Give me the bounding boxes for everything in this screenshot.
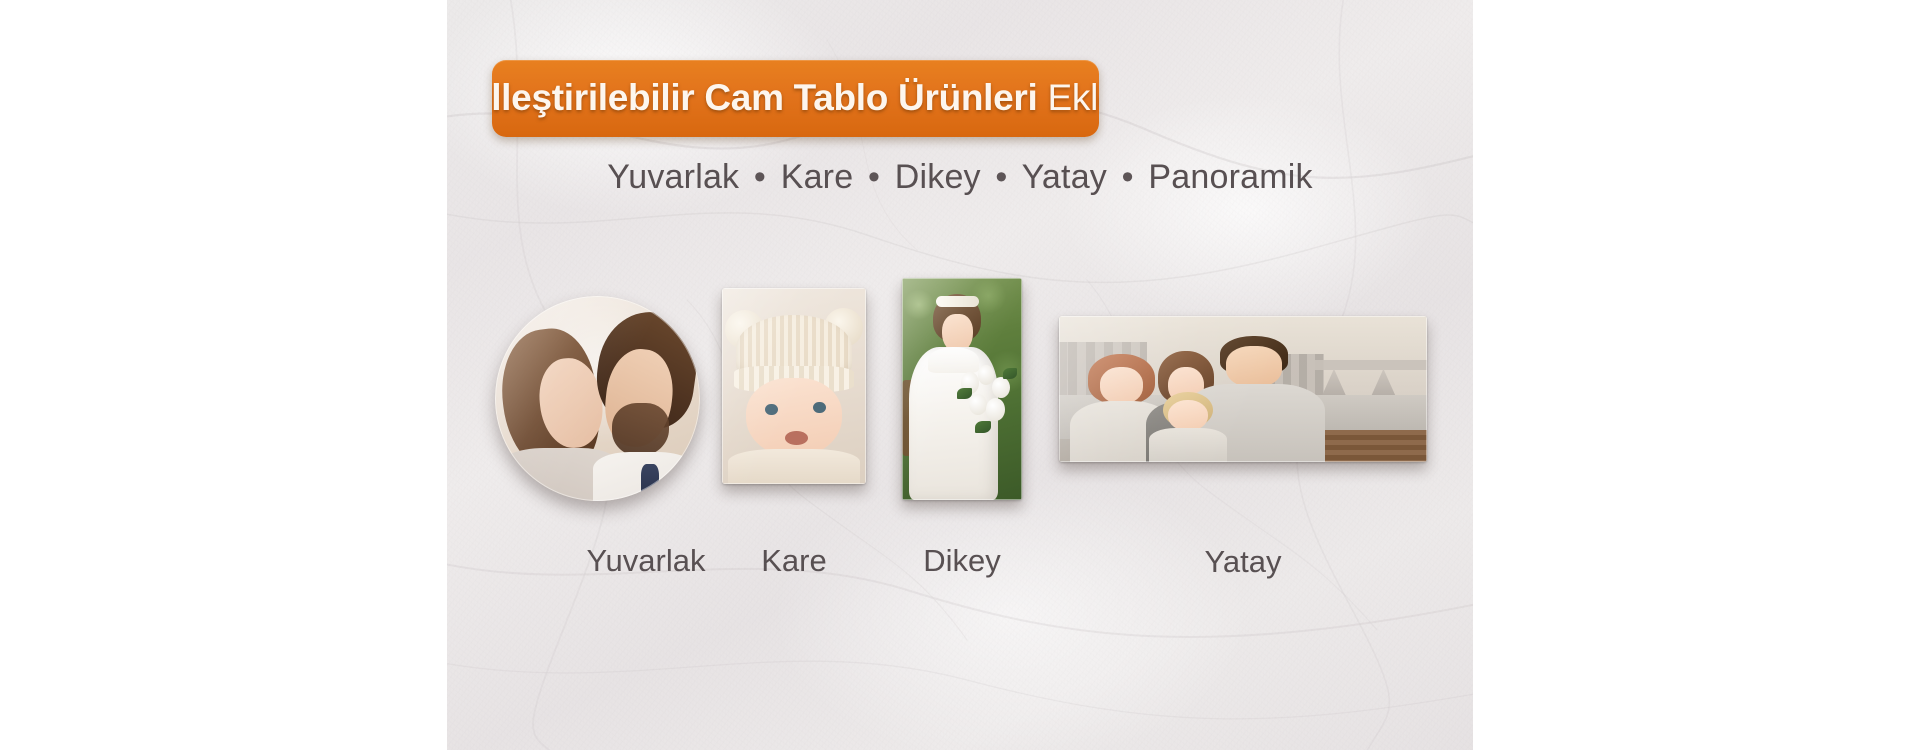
glass-panel-vertical[interactable]: [902, 278, 1022, 500]
subtitle-item-yatay: Yatay: [1022, 158, 1107, 196]
product-dikey[interactable]: Dikey: [902, 278, 1022, 500]
product-label-kare: Kare: [700, 543, 888, 579]
product-kare[interactable]: Kare: [722, 288, 866, 484]
subtitle-separator: •: [990, 158, 1012, 196]
product-label-yatay: Yatay: [1083, 544, 1403, 580]
subtitle-item-kare: Kare: [781, 158, 854, 196]
glass-panel-square[interactable]: [722, 288, 866, 484]
photo-couple: [495, 296, 700, 501]
glass-panel-panoramic[interactable]: [1059, 316, 1427, 462]
headline-bold: Özelleştirilebilir Cam Tablo Ürünleri: [492, 77, 1038, 118]
subtitle-item-panoramik: Panoramik: [1148, 158, 1312, 196]
glass-panel-round[interactable]: [495, 296, 700, 501]
subtitle-separator: •: [863, 158, 885, 196]
photo-baby: [722, 288, 866, 484]
promo-banner: Özelleştirilebilir Cam Tablo Ürünleri Ek…: [0, 0, 1920, 750]
photo-bride: [902, 278, 1022, 500]
photo-family: [1059, 316, 1427, 462]
product-label-dikey: Dikey: [870, 543, 1054, 579]
subtitle-list: Yuvarlak • Kare • Dikey • Yatay • Panora…: [447, 158, 1473, 197]
headline-light: Eklendi: [1048, 77, 1100, 118]
headline-text: Özelleştirilebilir Cam Tablo Ürünleri Ek…: [492, 79, 1099, 119]
subtitle-separator: •: [749, 158, 771, 196]
marble-background: Özelleştirilebilir Cam Tablo Ürünleri Ek…: [447, 0, 1473, 750]
subtitle-item-yuvarlak: Yuvarlak: [607, 158, 739, 196]
headline-banner: Özelleştirilebilir Cam Tablo Ürünleri Ek…: [492, 60, 1099, 137]
product-yatay[interactable]: Yatay: [1059, 316, 1427, 462]
subtitle-item-dikey: Dikey: [895, 158, 981, 196]
product-showcase: Yuvarlak Kare: [447, 268, 1473, 568]
product-yuvarlak[interactable]: Yuvarlak: [495, 296, 700, 501]
subtitle-separator: •: [1117, 158, 1139, 196]
